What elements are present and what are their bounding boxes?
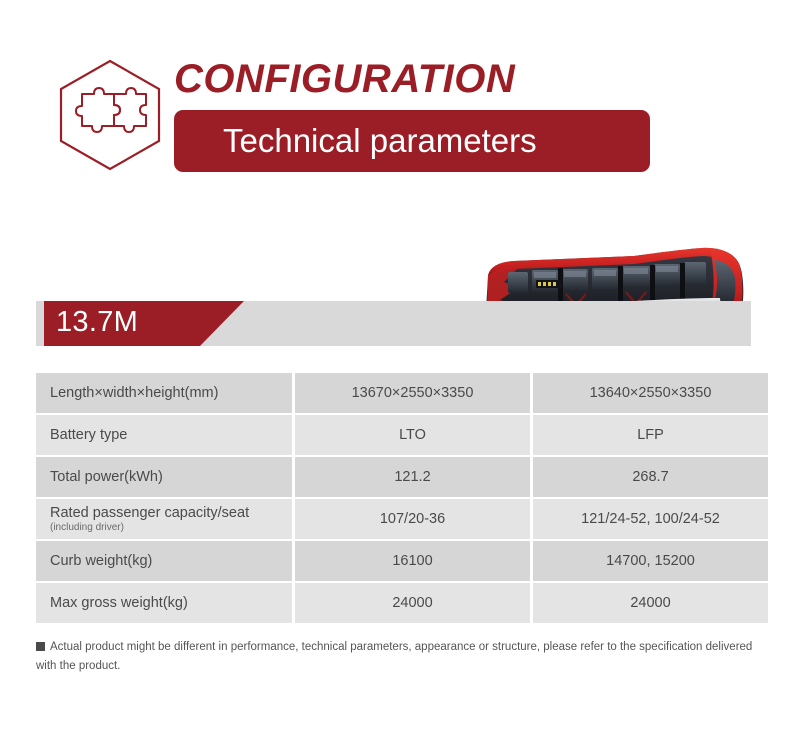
row-label: Battery type: [50, 427, 127, 443]
row-value-a: 13670×2550×3350: [294, 373, 532, 414]
row-value-b: LFP: [532, 414, 769, 456]
row-value-b: 24000: [532, 582, 769, 623]
row-value-b: 13640×2550×3350: [532, 373, 769, 414]
row-label: Rated passenger capacity/seat: [50, 505, 249, 521]
technical-parameters-label: Technical parameters: [174, 123, 537, 159]
row-label-cell: Length×width×height(mm): [36, 373, 294, 414]
table-row: Total power(kWh) 121.2 268.7: [36, 456, 768, 498]
row-value-a: 107/20-36: [294, 498, 532, 540]
technical-parameters-banner: Technical parameters: [174, 110, 650, 172]
footnote-text: Actual product might be different in per…: [36, 641, 752, 672]
row-value-a: 24000: [294, 582, 532, 623]
model-label: 13.7M: [56, 300, 138, 345]
table-row: Max gross weight(kg) 24000 24000: [36, 582, 768, 623]
table-row: Battery type LTO LFP: [36, 414, 768, 456]
puzzle-hexagon-icon: [56, 58, 164, 172]
square-bullet-icon: [36, 642, 45, 651]
row-label: Curb weight(kg): [50, 553, 152, 569]
page-header: CONFIGURATION Technical parameters: [0, 0, 790, 200]
table-row: Rated passenger capacity/seat (including…: [36, 498, 768, 540]
row-label-cell: Total power(kWh): [36, 456, 294, 498]
row-sub-label: (including driver): [50, 522, 292, 533]
row-label-cell: Rated passenger capacity/seat (including…: [36, 498, 294, 540]
row-value-b: 268.7: [532, 456, 769, 498]
page-title: CONFIGURATION: [174, 56, 515, 102]
row-value-b: 121/24-52, 100/24-52: [532, 498, 769, 540]
row-value-b: 14700, 15200: [532, 540, 769, 582]
row-value-a: 16100: [294, 540, 532, 582]
row-value-a: 121.2: [294, 456, 532, 498]
row-label-cell: Max gross weight(kg): [36, 582, 294, 623]
row-label: Length×width×height(mm): [50, 385, 218, 401]
technical-parameters-table: Length×width×height(mm) 13670×2550×3350 …: [36, 373, 768, 623]
footnote: Actual product might be different in per…: [36, 638, 756, 676]
row-label-cell: Battery type: [36, 414, 294, 456]
table-row: Curb weight(kg) 16100 14700, 15200: [36, 540, 768, 582]
row-label-cell: Curb weight(kg): [36, 540, 294, 582]
row-label: Total power(kWh): [50, 469, 163, 485]
row-value-a: LTO: [294, 414, 532, 456]
table-row: Length×width×height(mm) 13670×2550×3350 …: [36, 373, 768, 414]
row-label: Max gross weight(kg): [50, 595, 188, 611]
